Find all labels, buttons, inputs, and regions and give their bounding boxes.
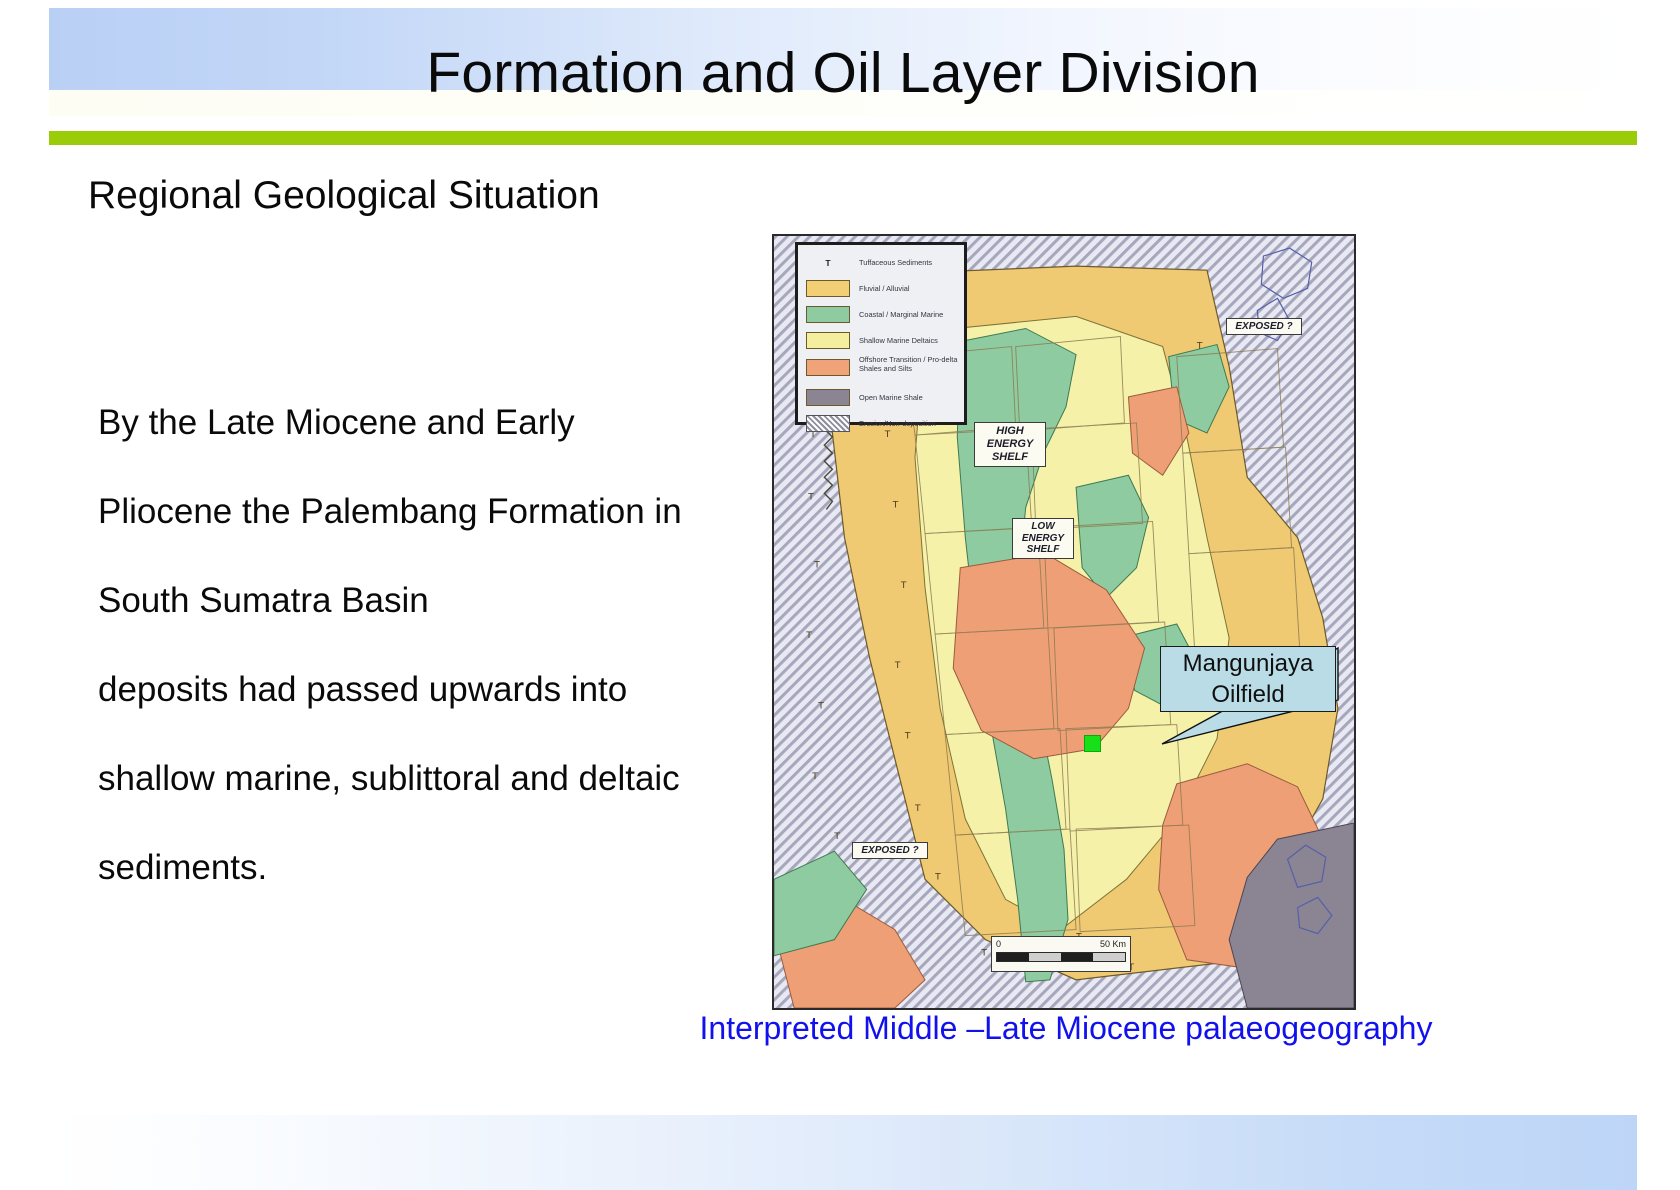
callout-line-1: Mangunjaya: [1183, 648, 1314, 679]
svg-text:T: T: [914, 804, 921, 814]
svg-text:T: T: [805, 631, 812, 641]
legend-entry: Coastal / Marginal Marine: [806, 303, 958, 326]
svg-text:T: T: [934, 872, 941, 882]
callout-line-2: Oilfield: [1211, 679, 1284, 710]
legend-label: Erosion/Non-deposition: [859, 419, 936, 428]
mangunjaya-oilfield-marker: [1084, 735, 1101, 752]
svg-text:T: T: [811, 772, 818, 782]
legend-label: Offshore Transition / Pro-delta Shales a…: [859, 355, 958, 374]
svg-text:T: T: [980, 949, 987, 959]
scale-segment: [1061, 953, 1093, 961]
scale-segment: [1029, 953, 1061, 961]
scale-segment: [997, 953, 1029, 961]
svg-text:T: T: [892, 500, 899, 510]
legend-label: Tuffaceous Sediments: [859, 258, 932, 267]
svg-text:T: T: [1196, 342, 1203, 352]
body-line: shallow marine, sublittoral and deltaic: [98, 734, 758, 823]
legend-swatch-hatched: [806, 415, 850, 432]
scale-bar-numbers: 0 50 Km: [996, 939, 1126, 949]
slide-canvas: Formation and Oil Layer Division Regiona…: [0, 0, 1680, 1190]
legend-label: Coastal / Marginal Marine: [859, 310, 943, 319]
legend-entry: T Tuffaceous Sediments: [806, 251, 958, 274]
title-underline-bar: [49, 131, 1637, 145]
section-subheading: Regional Geological Situation: [88, 171, 600, 221]
body-line: sediments.: [98, 823, 758, 912]
legend-entry: Open Marine Shale: [806, 386, 958, 409]
svg-text:T: T: [807, 492, 814, 502]
svg-text:T: T: [904, 732, 911, 742]
svg-text:T: T: [813, 561, 820, 571]
legend-swatch: [806, 389, 850, 406]
legend-label: Fluvial / Alluvial: [859, 284, 910, 293]
legend-label: Open Marine Shale: [859, 393, 923, 402]
svg-text:T: T: [900, 581, 907, 591]
body-line: By the Late Miocene and Early: [98, 378, 758, 467]
svg-text:T: T: [817, 701, 824, 711]
body-line: Pliocene the Palembang Formation in: [98, 467, 758, 556]
map-label-low-energy-shelf: LOW ENERGY SHELF: [1012, 518, 1074, 559]
legend-swatch: [806, 359, 850, 376]
map-label-exposed-southwest: EXPOSED ?: [852, 842, 928, 859]
map-label-high-energy-shelf: HIGH ENERGY SHELF: [974, 422, 1046, 467]
body-line: South Sumatra Basin: [98, 556, 758, 645]
scale-min: 0: [996, 939, 1001, 949]
legend-swatch: [806, 332, 850, 349]
legend-entry: Fluvial / Alluvial: [806, 277, 958, 300]
figure-caption: Interpreted Middle –Late Miocene palaeog…: [686, 1008, 1446, 1048]
svg-text:T: T: [894, 661, 901, 671]
legend-entry: Erosion/Non-deposition: [806, 412, 958, 435]
map-legend: T Tuffaceous Sediments Fluvial / Alluvia…: [795, 242, 967, 425]
scale-bar-segments: [996, 952, 1126, 962]
page-title: Formation and Oil Layer Division: [49, 40, 1637, 106]
body-line: deposits had passed upwards into: [98, 645, 758, 734]
legend-entry: Shallow Marine Deltaics: [806, 329, 958, 352]
palaeogeography-map: TT TT TT TT TT TT TT TT TT: [772, 234, 1356, 1010]
legend-swatch: [806, 306, 850, 323]
svg-text:T: T: [833, 832, 840, 842]
scale-segment: [1093, 953, 1125, 961]
legend-entry: Offshore Transition / Pro-delta Shales a…: [806, 355, 958, 383]
legend-swatch: [806, 280, 850, 297]
footer-band: [49, 1115, 1637, 1190]
legend-symbol-t: T: [806, 258, 850, 268]
map-scale-bar: 0 50 Km: [991, 936, 1131, 972]
mangunjaya-oilfield-callout: Mangunjaya Oilfield: [1160, 646, 1336, 712]
map-label-exposed-northeast: EXPOSED ?: [1226, 318, 1302, 335]
body-paragraph: By the Late Miocene and Early Pliocene t…: [98, 378, 758, 912]
scale-max: 50 Km: [1100, 939, 1126, 949]
legend-label: Shallow Marine Deltaics: [859, 336, 938, 345]
